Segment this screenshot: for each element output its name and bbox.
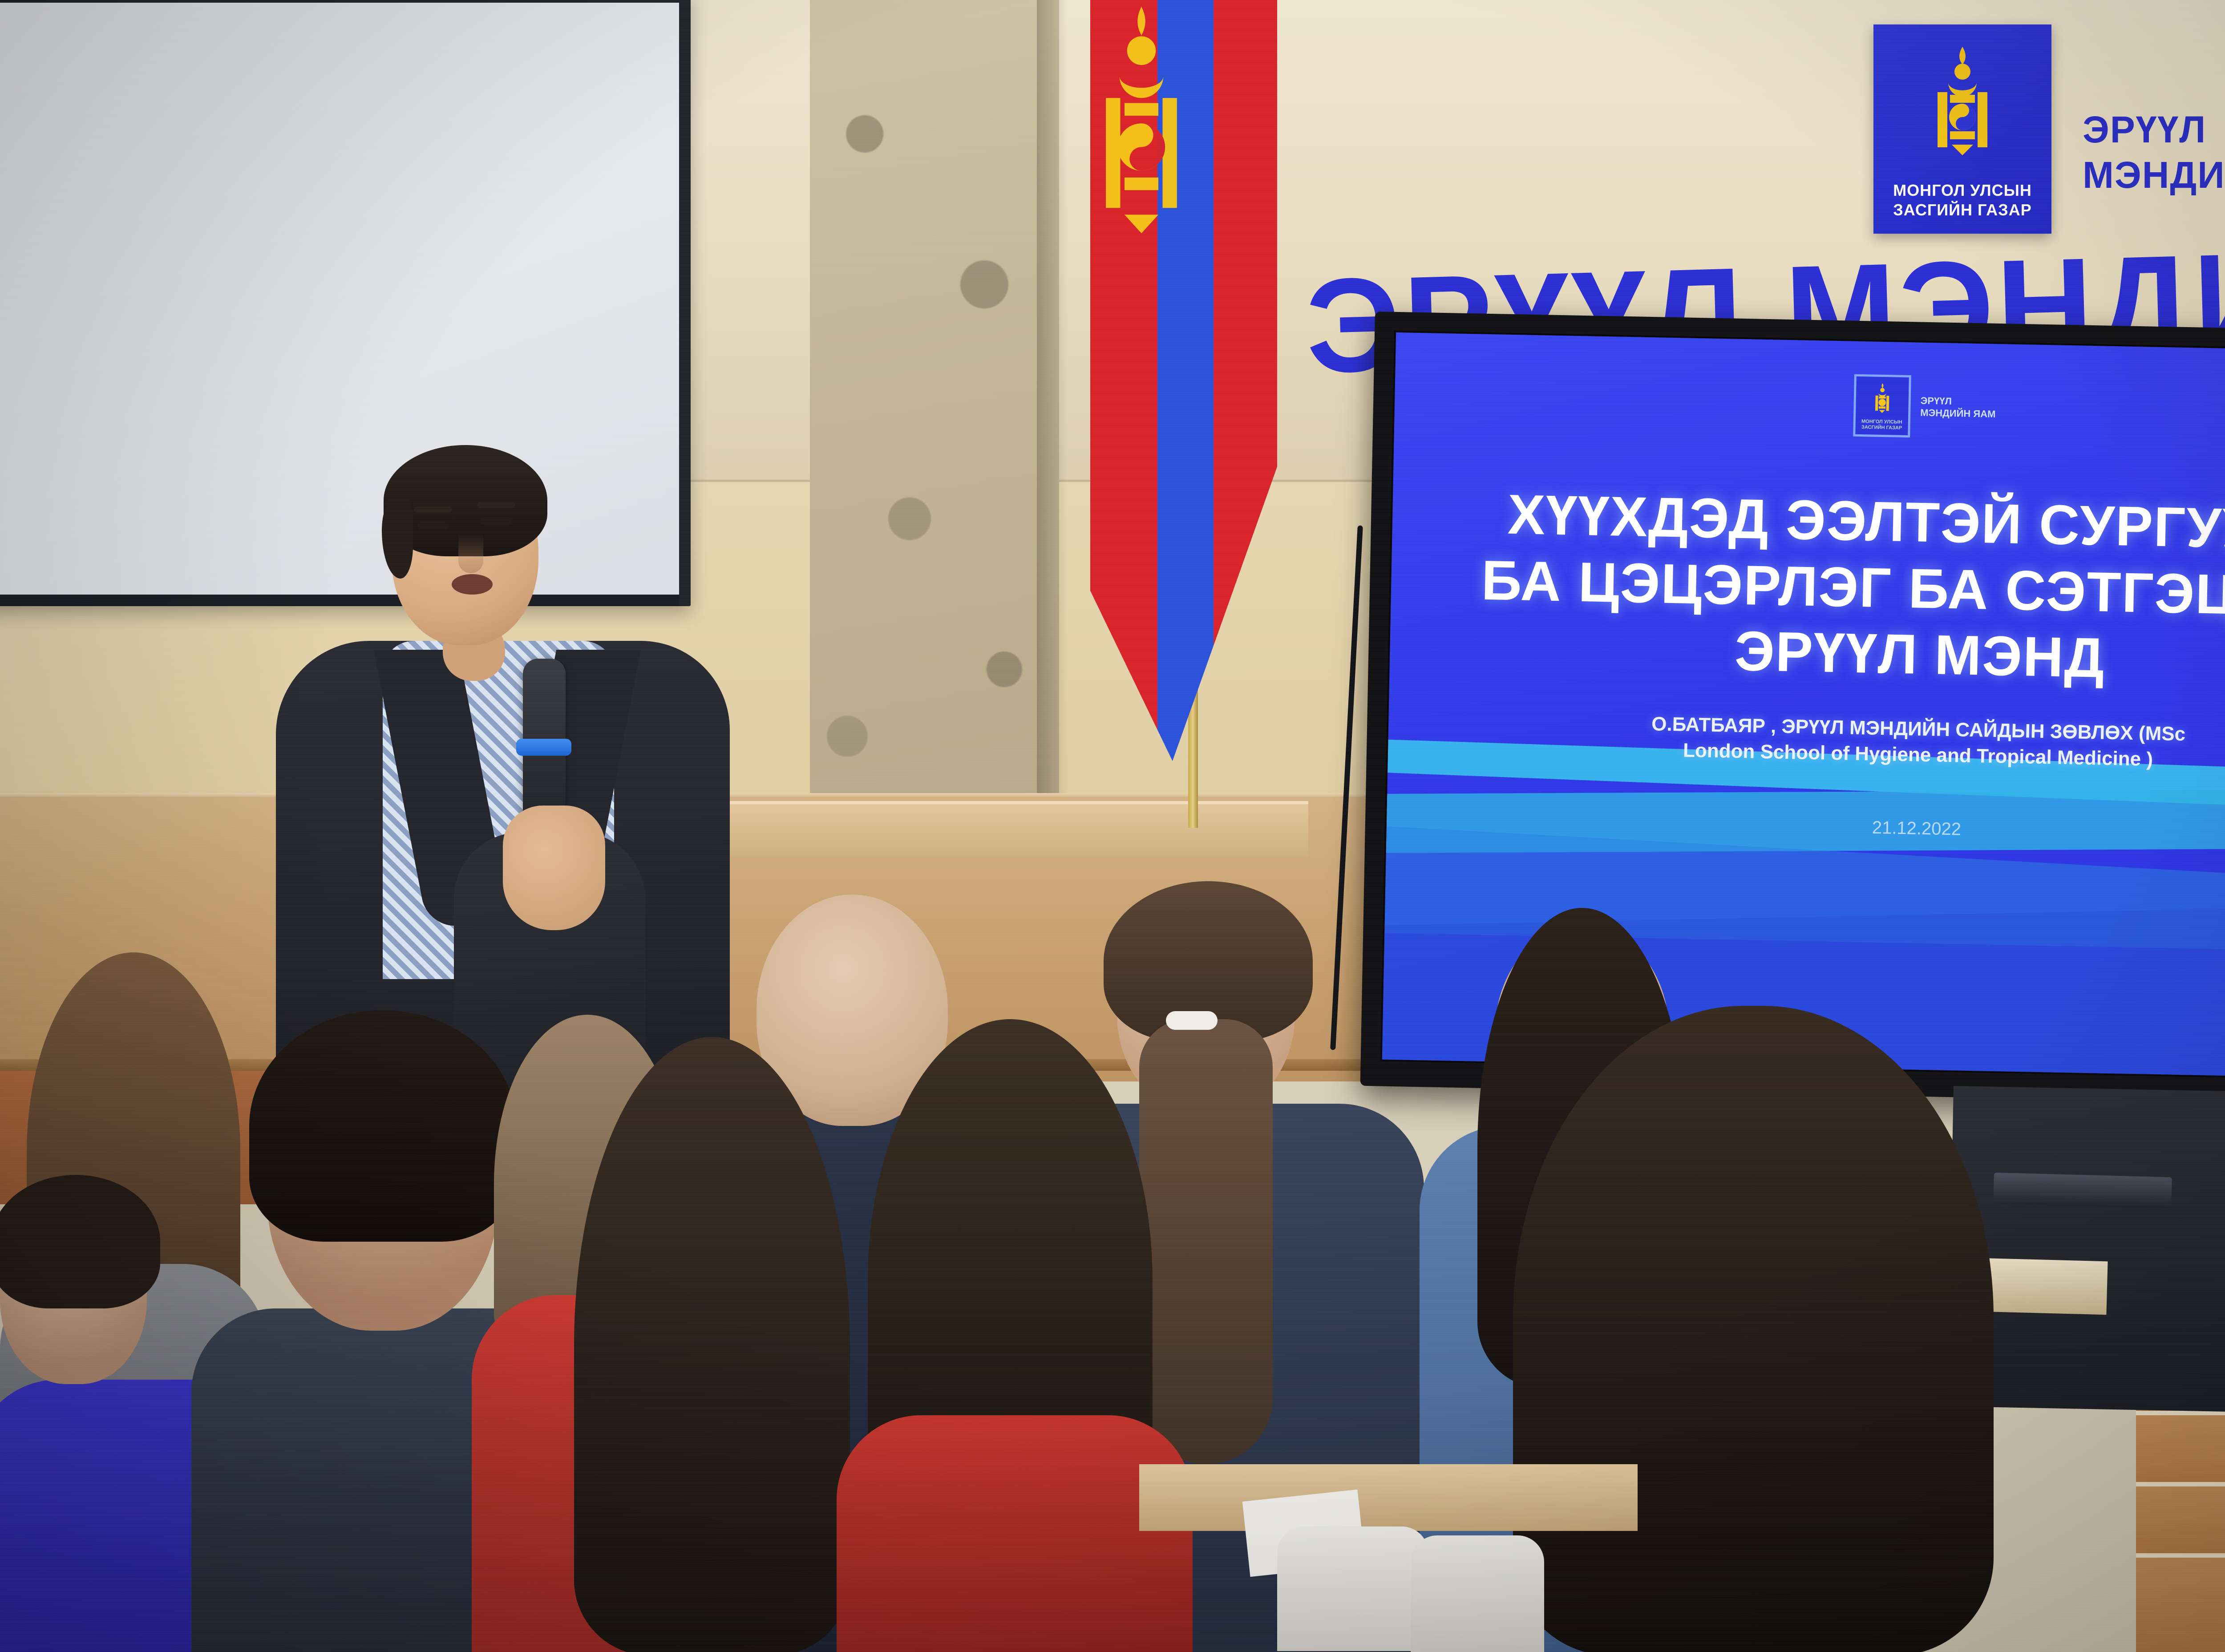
ministry-name-line1: ЭРҮҮЛ — [2083, 107, 2225, 152]
microphone-band — [516, 739, 571, 756]
presentation-slide: МОНГОЛ УЛСЫН ЗАСГИЙН ГАЗАР ЭРҮҮЛ МЭНДИЙН… — [1382, 332, 2225, 1080]
slide-title: ХҮҮХДЭД ЭЭЛТЭЙ СУРГУУЛЬ БА ЦЭЦЭРЛЭГ БА С… — [1389, 479, 2225, 698]
projection-screen — [0, 0, 691, 606]
slide-ministry-logo: МОНГОЛ УЛСЫН ЗАСГИЙН ГАЗАР ЭРҮҮЛ МЭНДИЙН… — [1853, 374, 1996, 439]
speaker-eyebrow-right — [477, 502, 515, 508]
speaker-eye-left — [417, 522, 449, 530]
speaker-mouth — [452, 574, 493, 595]
plaque-line1: МОНГОЛ УЛСЫН — [1873, 181, 2051, 201]
stone-pillar — [810, 0, 1059, 837]
plaque-line2: ЗАСГИЙН ГАЗАР — [1873, 200, 2051, 220]
conference-room-photo: ЭРҮҮЛ МЭНДИЙН Я МОНГОЛ УЛСЫН ЗАСГИЙН ГАЗ… — [0, 0, 2225, 1652]
display-bezel: МОНГОЛ УЛСЫН ЗАСГИЙН ГАЗАР ЭРҮҮЛ МЭНДИЙН… — [1380, 331, 2225, 1082]
slide-logo-line2: МЭНДИЙН ЯАМ — [1920, 407, 1996, 421]
ministry-wall-name: ЭРҮҮЛ МЭНДИЙН ЯАМ — [2083, 107, 2225, 198]
speaker-hand — [503, 806, 605, 930]
hair-tie — [1166, 1011, 1218, 1030]
wall-display[interactable]: МОНГОЛ УЛСЫН ЗАСГИЙН ГАЗАР ЭРҮҮЛ МЭНДИЙН… — [1360, 312, 2225, 1107]
flag-soyombo-icon — [1099, 0, 1184, 276]
pillar-shadow — [1037, 0, 1068, 837]
speaker-nose — [458, 534, 483, 573]
speaker-eyebrow-left — [414, 506, 452, 513]
chair-back-2 — [1411, 1535, 1544, 1652]
slide-soyombo-icon — [1869, 382, 1895, 415]
soyombo-icon — [1918, 43, 2007, 163]
chair-back — [1277, 1526, 1428, 1651]
slide-plaque-line2: ЗАСГИЙН ГАЗАР — [1855, 425, 1908, 432]
desk-front — [1139, 1464, 1638, 1531]
keyboard[interactable] — [1993, 1173, 2172, 1208]
government-plaque: МОНГОЛ УЛСЫН ЗАСГИЙН ГАЗАР — [1873, 24, 2051, 234]
slide-logo-line1: ЭРҮҮЛ — [1921, 394, 1996, 408]
speaker-eye-right — [481, 517, 512, 525]
slide-presenter: О.БАТБАЯР , ЭРҮҮЛ МЭНДИЙН САЙДЫН ЗӨВЛӨХ … — [1640, 711, 2197, 773]
plaque-text: МОНГОЛ УЛСЫН ЗАСГИЙН ГАЗАР — [1873, 181, 2051, 220]
ministry-name-line2: МЭНДИЙН ЯАМ — [2083, 152, 2225, 198]
